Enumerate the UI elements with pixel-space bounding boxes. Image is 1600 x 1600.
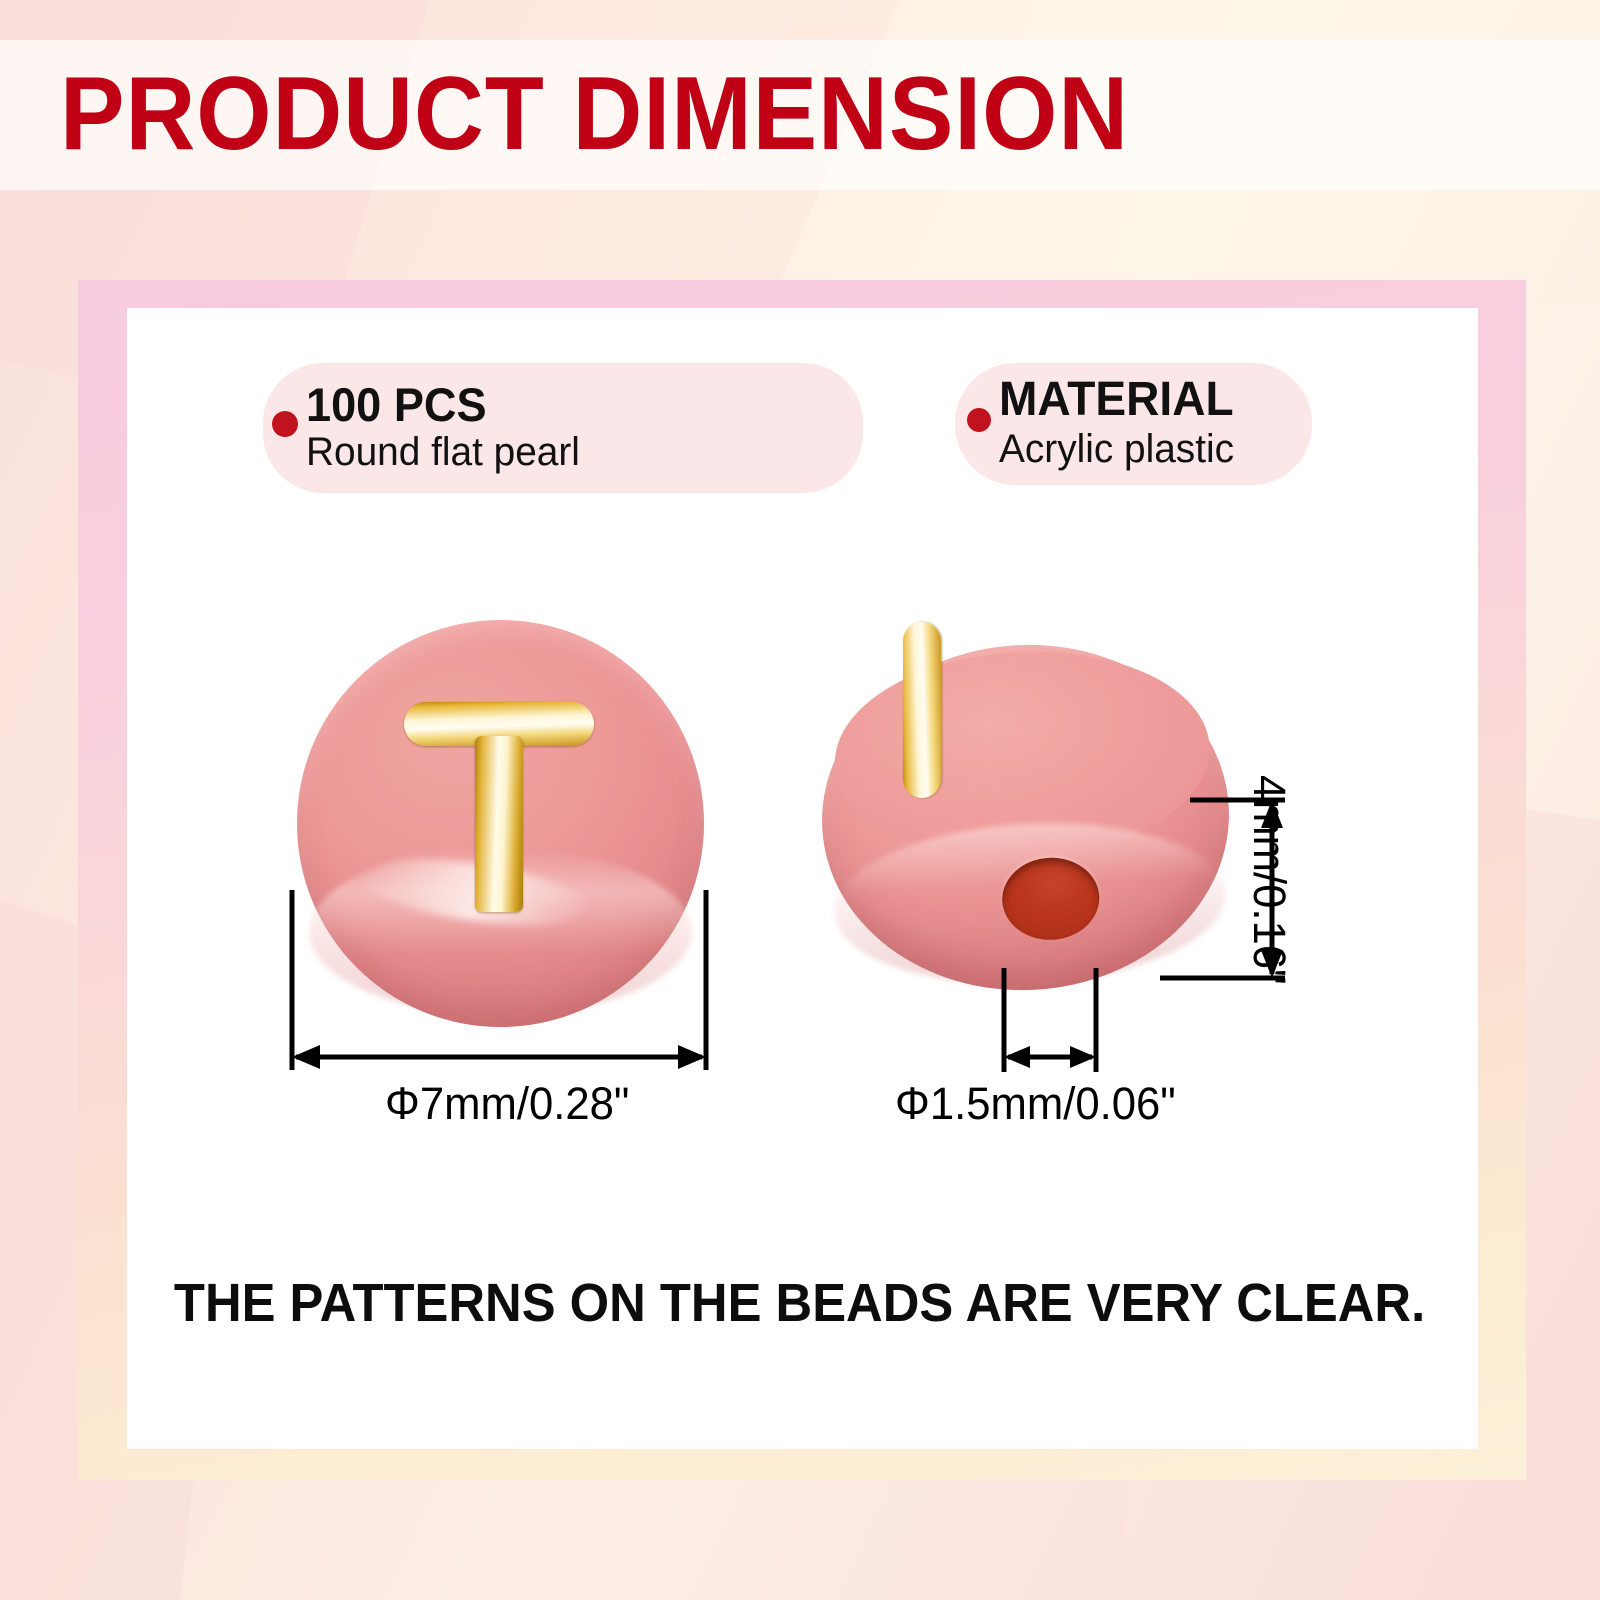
info-pill-material-subtitle: Acrylic plastic: [999, 426, 1236, 473]
gold-letter-t-side-icon: [947, 656, 1043, 846]
bullet-dot-icon: [967, 408, 991, 432]
dimension-label-hole: Φ1.5mm/0.06": [895, 1078, 1176, 1130]
letter-t-stem: [475, 736, 523, 912]
info-pill-material-text: MATERIAL Acrylic plastic: [999, 375, 1243, 473]
page-title: PRODUCT DIMENSION: [60, 62, 1129, 166]
info-pill-quantity-title: 100 PCS: [306, 380, 577, 430]
bottom-caption: THE PATTERNS ON THE BEADS ARE VERY CLEAR…: [0, 1272, 1600, 1334]
gold-letter-t-front-icon: [404, 700, 594, 912]
info-pill-quantity-subtitle: Round flat pearl: [306, 429, 580, 476]
info-pill-material: MATERIAL Acrylic plastic: [955, 363, 1312, 485]
bullet-dot-icon: [272, 411, 298, 437]
letter-t-crossbar: [903, 622, 941, 798]
dimension-label-diameter: Φ7mm/0.28": [385, 1078, 629, 1130]
dimension-label-thickness: 4mm/0.16": [1243, 775, 1295, 985]
info-pill-material-title: MATERIAL: [999, 375, 1234, 426]
bottom-caption-text: THE PATTERNS ON THE BEADS ARE VERY CLEAR…: [174, 1272, 1425, 1334]
info-pill-quantity: 100 PCS Round flat pearl: [263, 363, 863, 493]
info-pill-quantity-text: 100 PCS Round flat pearl: [306, 380, 588, 477]
